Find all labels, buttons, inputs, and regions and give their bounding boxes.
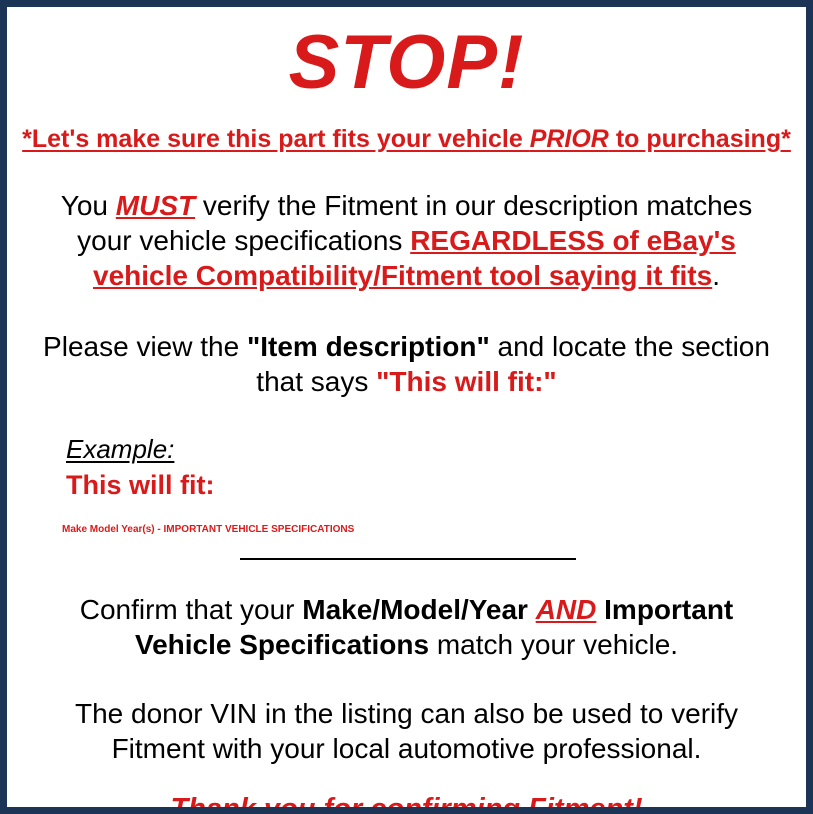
item-description-quote: "Item description" [247,331,490,362]
subtitle-tail-text: to purchasing* [609,125,791,153]
stop-heading: STOP! [18,25,795,101]
make-model-year-bold: Make/Model/Year [302,594,528,625]
this-will-fit-quote: "This will fit:" [376,366,557,397]
confirm-part1: Confirm that your [80,594,303,625]
divider-wrapper [18,558,795,560]
confirm-space-2 [596,594,604,625]
example-block: Example: This will fit: [18,435,795,502]
must-part3: . [712,260,720,291]
example-fit-heading: This will fit: [66,469,795,501]
and-emphasis: AND [536,594,597,625]
confirm-part2: match your vehicle. [429,629,678,660]
example-spec-line: Make Model Year(s) - IMPORTANT VEHICLE S… [18,524,795,536]
example-label: Example: [66,435,795,464]
must-emphasis: MUST [116,190,195,221]
confirm-space-1 [528,594,536,625]
fitment-notice-card: STOP! *Let's make sure this part fits yo… [0,0,813,814]
donor-vin-paragraph: The donor VIN in the listing can also be… [18,696,795,766]
item-description-paragraph: Please view the "Item description" and l… [18,329,795,399]
subtitle-lead-text: *Let's make sure this part fits your veh… [22,125,530,153]
subtitle-prior-emphasis: PRIOR [530,125,609,153]
must-verify-paragraph: You MUST verify the Fitment in our descr… [18,188,795,293]
notice-content: STOP! *Let's make sure this part fits yo… [7,7,806,807]
confirm-paragraph: Confirm that your Make/Model/Year AND Im… [18,592,795,662]
section-divider [240,558,576,560]
thank-you-line: Thank you for confirming Fitment! [18,792,795,814]
subtitle-banner: *Let's make sure this part fits your veh… [18,125,795,154]
view-part1: Please view the [43,331,247,362]
must-part1: You [61,190,116,221]
